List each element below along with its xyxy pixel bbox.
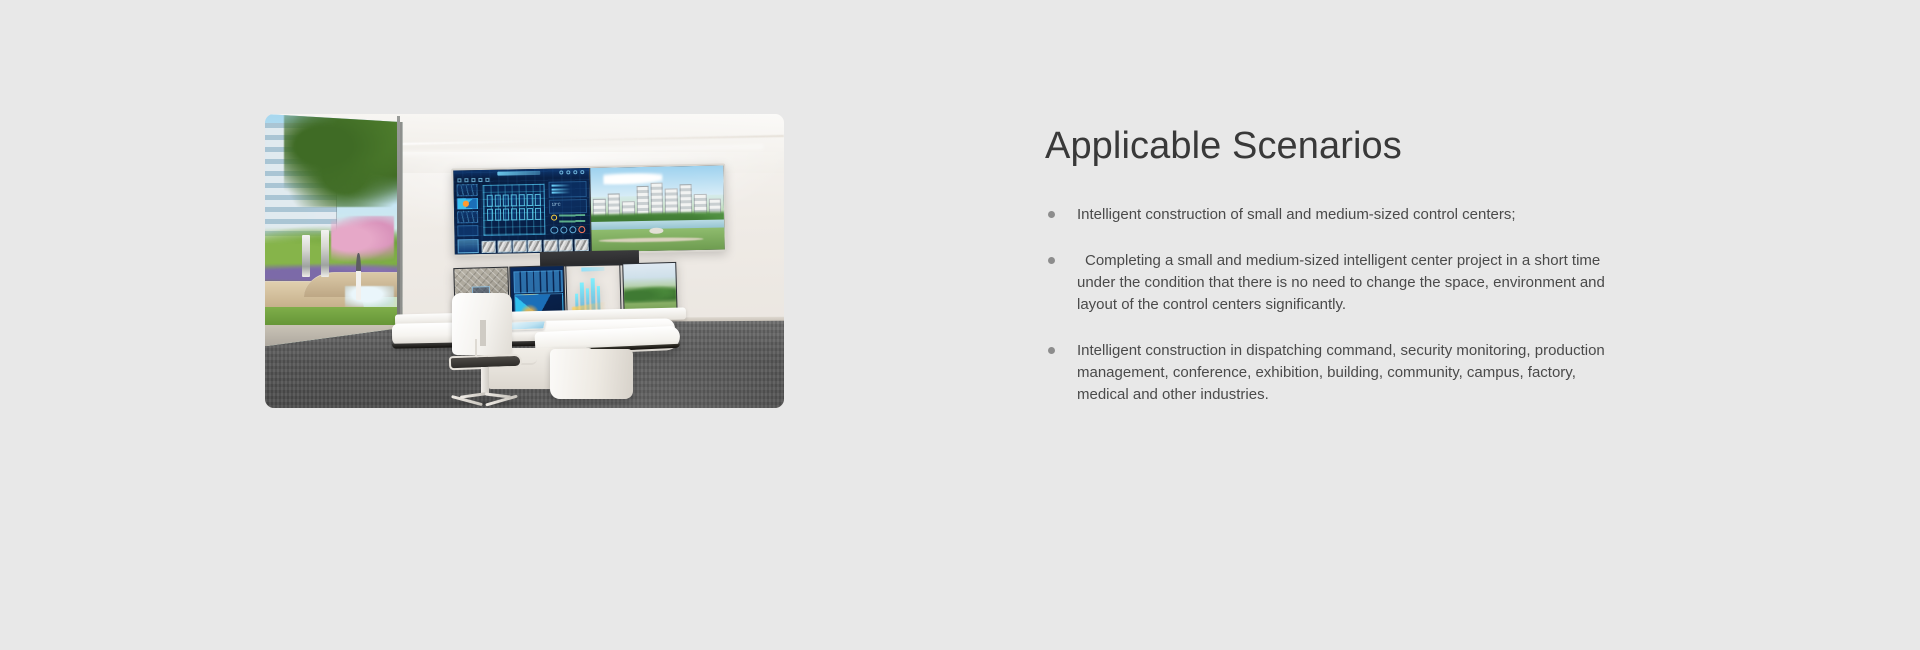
dashboard-right-widget-column: 13°C bbox=[548, 181, 587, 236]
camera-thumbnail bbox=[574, 239, 588, 251]
status-dot-alarm bbox=[578, 226, 585, 233]
dashboard-icon-2 bbox=[566, 171, 570, 175]
camera-thumbnail bbox=[528, 240, 542, 252]
dashboard-left-icon-4 bbox=[478, 178, 482, 182]
garden-lantern-right bbox=[321, 230, 329, 276]
floorplan-room bbox=[534, 194, 540, 206]
dashboard-icon-4 bbox=[580, 171, 584, 175]
status-dot bbox=[550, 227, 557, 234]
status-dot bbox=[560, 226, 567, 233]
widget-temperature: 13°C bbox=[548, 199, 586, 214]
camera-thumbnail bbox=[497, 240, 511, 252]
water-feature bbox=[345, 286, 395, 307]
task-chair-base bbox=[448, 389, 523, 404]
widget-operator-thumbnail bbox=[458, 239, 479, 253]
list-item: Completing a small and medium-sized inte… bbox=[1045, 250, 1605, 316]
widget-building-floorplan bbox=[482, 184, 546, 236]
control-room-image: 13°C bbox=[265, 114, 784, 408]
camera-thumbnail bbox=[543, 240, 557, 252]
camera-thumbnail bbox=[559, 239, 573, 251]
page-title: Applicable Scenarios bbox=[1045, 125, 1605, 169]
camera-thumbnail bbox=[512, 240, 526, 252]
floorplan-room bbox=[487, 209, 493, 221]
status-dot bbox=[569, 226, 576, 233]
console-desk-pedestal bbox=[550, 349, 633, 399]
widget-kpi-card bbox=[457, 225, 478, 237]
stat-row bbox=[551, 188, 571, 190]
list-item-text: Completing a small and medium-sized inte… bbox=[1077, 250, 1605, 316]
floorplan-room bbox=[503, 195, 509, 207]
dashboard-left-widget-column bbox=[457, 185, 478, 238]
floorplan-room bbox=[535, 208, 541, 220]
video-wall-display: 13°C bbox=[451, 164, 727, 257]
widget-statistics-list bbox=[548, 181, 586, 198]
dashboard-left-icon-1 bbox=[457, 178, 461, 182]
floorplan-rooms bbox=[487, 194, 541, 221]
text-column: Applicable Scenarios Intelligent constru… bbox=[1045, 125, 1605, 406]
window-exterior-view bbox=[265, 114, 403, 346]
pedestrian-figure bbox=[356, 253, 362, 299]
page-root: 13°C bbox=[0, 0, 1920, 650]
videowall-dashboard-panel: 13°C bbox=[453, 168, 591, 255]
stat-row bbox=[551, 185, 571, 187]
bullet-dot-icon bbox=[1048, 257, 1055, 264]
floorplan-room bbox=[487, 195, 493, 207]
garden-lantern-left bbox=[302, 235, 310, 277]
list-item: Intelligent construction of small and me… bbox=[1045, 204, 1605, 226]
tree-canopy bbox=[284, 114, 402, 207]
floorplan-room bbox=[518, 194, 524, 206]
chair-caster-leg bbox=[460, 392, 486, 398]
list-item: Intelligent construction in dispatching … bbox=[1045, 340, 1605, 406]
dashboard-left-icons bbox=[457, 178, 489, 183]
widget-sparkline-chart bbox=[457, 185, 478, 197]
widget-gauge-dial bbox=[551, 215, 557, 221]
list-item-text: Intelligent construction of small and me… bbox=[1077, 204, 1605, 226]
floorplan-room bbox=[519, 208, 525, 220]
floorplan-room bbox=[526, 194, 532, 206]
dashboard-left-icon-3 bbox=[471, 178, 475, 182]
window-mullion bbox=[397, 116, 400, 348]
floorplan-room bbox=[527, 208, 533, 220]
dashboard-left-icon-2 bbox=[464, 178, 468, 182]
dashboard-icon-1 bbox=[559, 171, 563, 175]
floorplan-room bbox=[495, 209, 501, 221]
floorplan-room bbox=[511, 195, 517, 207]
bullet-dot-icon bbox=[1048, 211, 1055, 218]
floorplan-room bbox=[503, 209, 509, 221]
flowering-tree bbox=[331, 216, 394, 262]
stat-row bbox=[551, 192, 571, 194]
widget-status-indicators bbox=[550, 226, 585, 234]
floorplan-room bbox=[495, 195, 501, 207]
monitor-header-bar bbox=[581, 267, 604, 272]
dashboard-left-icon-5 bbox=[485, 178, 489, 182]
widget-pie-chart bbox=[457, 198, 478, 210]
scenario-list: Intelligent construction of small and me… bbox=[1045, 204, 1605, 406]
bullet-dot-icon bbox=[1048, 347, 1055, 354]
dashboard-icon-3 bbox=[573, 171, 577, 175]
aerial-rockery bbox=[649, 228, 662, 234]
camera-thumbnail bbox=[482, 241, 496, 253]
list-item-text: Intelligent construction in dispatching … bbox=[1077, 340, 1605, 406]
floorplan-room bbox=[511, 209, 517, 221]
widget-trend-chart bbox=[457, 212, 478, 224]
chair-caster-leg bbox=[485, 392, 511, 398]
videowall-aerial-view-panel bbox=[589, 166, 724, 253]
render-scene: 13°C bbox=[265, 114, 784, 408]
